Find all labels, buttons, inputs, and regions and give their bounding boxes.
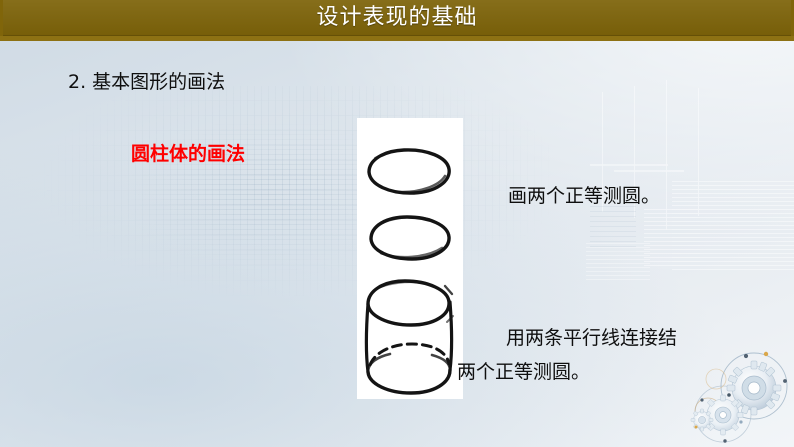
annotation-step-one: 画两个正等测圆。 [508,183,660,209]
page-title: 设计表现的基础 [0,3,794,33]
topic-label-cylinder: 圆柱体的画法 [131,141,245,167]
gears-icon [688,348,792,445]
presentation-slide: 设计表现的基础 2. 基本图形的画法 圆柱体的画法 [0,0,794,447]
slide-title-bar: 设计表现的基础 [0,0,794,41]
slide-title-bar-stripe [0,36,794,41]
cylinder-drawing-icon [357,118,463,399]
section-heading: 2. 基本图形的画法 [68,69,225,95]
gear-cluster-decoration [688,348,792,445]
figure-cylinder-construction [357,118,463,399]
